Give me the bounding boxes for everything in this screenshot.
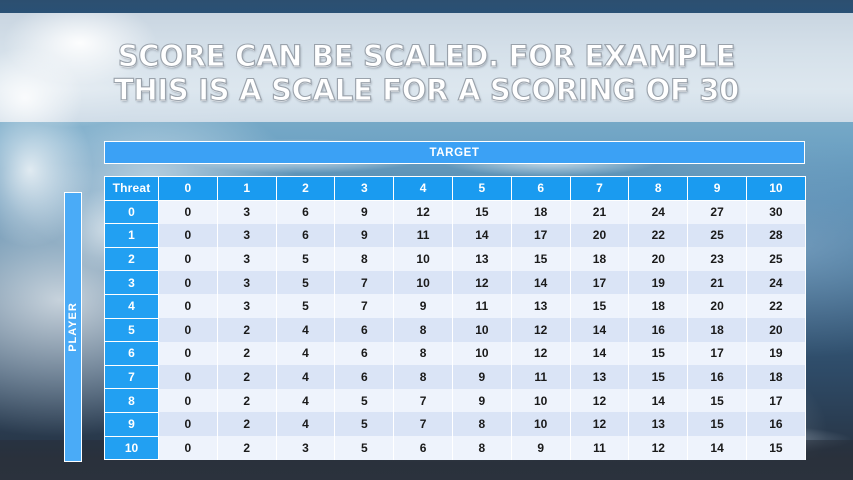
cell-r3-c10: 24	[746, 271, 805, 295]
cell-r2-c10: 25	[746, 247, 805, 271]
cell-r8-c0: 0	[159, 389, 218, 413]
column-header-7: 7	[570, 177, 629, 201]
row-header-0: 0	[105, 200, 159, 224]
page-title: SCORE CAN BE SCALED. FOR EXAMPLE THIS IS…	[0, 39, 853, 107]
cell-r5-c10: 20	[746, 318, 805, 342]
cell-r5-c8: 16	[629, 318, 688, 342]
row-header-5: 5	[105, 318, 159, 342]
column-header-9: 9	[688, 177, 747, 201]
table-corner-header-threat: Threat	[105, 177, 159, 201]
cell-r10-c0: 0	[159, 436, 218, 460]
column-axis-label-target: TARGET	[104, 141, 805, 164]
table-row: 403579111315182022	[105, 294, 806, 318]
row-header-7: 7	[105, 365, 159, 389]
cell-r0-c0: 0	[159, 200, 218, 224]
cell-r8-c9: 15	[688, 389, 747, 413]
cell-r6-c6: 12	[511, 342, 570, 366]
cell-r6-c9: 17	[688, 342, 747, 366]
cell-r8-c5: 9	[452, 389, 511, 413]
cell-r2-c7: 18	[570, 247, 629, 271]
cell-r5-c3: 6	[335, 318, 394, 342]
cell-r4-c10: 22	[746, 294, 805, 318]
cell-r0-c8: 24	[629, 200, 688, 224]
row-header-8: 8	[105, 389, 159, 413]
cell-r6-c0: 0	[159, 342, 218, 366]
cell-r1-c3: 9	[335, 224, 394, 248]
cell-r3-c4: 10	[394, 271, 453, 295]
cell-r9-c2: 4	[276, 412, 335, 436]
title-banner: SCORE CAN BE SCALED. FOR EXAMPLE THIS IS…	[0, 13, 853, 122]
cell-r9-c9: 15	[688, 412, 747, 436]
cell-r4-c1: 3	[217, 294, 276, 318]
cell-r3-c8: 19	[629, 271, 688, 295]
column-header-1: 1	[217, 177, 276, 201]
cell-r8-c3: 5	[335, 389, 394, 413]
table-row: 80245791012141517	[105, 389, 806, 413]
cell-r7-c7: 13	[570, 365, 629, 389]
cell-r6-c8: 15	[629, 342, 688, 366]
table-row: 0036912151821242730	[105, 200, 806, 224]
cell-r2-c3: 8	[335, 247, 394, 271]
cell-r10-c7: 11	[570, 436, 629, 460]
row-header-2: 2	[105, 247, 159, 271]
cell-r2-c2: 5	[276, 247, 335, 271]
cell-r5-c6: 12	[511, 318, 570, 342]
cell-r7-c1: 2	[217, 365, 276, 389]
row-header-9: 9	[105, 412, 159, 436]
cell-r3-c3: 7	[335, 271, 394, 295]
cell-r6-c4: 8	[394, 342, 453, 366]
table-row: 2035810131518202325	[105, 247, 806, 271]
player-label-text: PLAYER	[67, 302, 79, 352]
cell-r5-c5: 10	[452, 318, 511, 342]
cell-r9-c0: 0	[159, 412, 218, 436]
cell-r4-c2: 5	[276, 294, 335, 318]
cell-r10-c6: 9	[511, 436, 570, 460]
cell-r1-c9: 25	[688, 224, 747, 248]
cell-r6-c5: 10	[452, 342, 511, 366]
cell-r3-c5: 12	[452, 271, 511, 295]
cell-r7-c9: 16	[688, 365, 747, 389]
column-header-8: 8	[629, 177, 688, 201]
cell-r1-c4: 11	[394, 224, 453, 248]
cell-r4-c9: 20	[688, 294, 747, 318]
cell-r10-c1: 2	[217, 436, 276, 460]
table-row: 502468101214161820	[105, 318, 806, 342]
cell-r3-c9: 21	[688, 271, 747, 295]
cell-r9-c7: 12	[570, 412, 629, 436]
table-row: 70246891113151618	[105, 365, 806, 389]
cell-r9-c10: 16	[746, 412, 805, 436]
row-header-3: 3	[105, 271, 159, 295]
cell-r2-c6: 15	[511, 247, 570, 271]
cell-r4-c8: 18	[629, 294, 688, 318]
cell-r8-c7: 12	[570, 389, 629, 413]
cell-r8-c1: 2	[217, 389, 276, 413]
cell-r7-c4: 8	[394, 365, 453, 389]
target-label-text: TARGET	[429, 147, 479, 159]
cell-r9-c3: 5	[335, 412, 394, 436]
column-header-6: 6	[511, 177, 570, 201]
row-header-4: 4	[105, 294, 159, 318]
score-scale-table: Threat012345678910 003691215182124273010…	[104, 176, 806, 460]
cell-r6-c1: 2	[217, 342, 276, 366]
cell-r1-c7: 20	[570, 224, 629, 248]
cell-r8-c2: 4	[276, 389, 335, 413]
table-head: Threat012345678910	[105, 177, 806, 201]
row-header-6: 6	[105, 342, 159, 366]
cell-r9-c1: 2	[217, 412, 276, 436]
cell-r8-c6: 10	[511, 389, 570, 413]
cell-r2-c0: 0	[159, 247, 218, 271]
cell-r3-c2: 5	[276, 271, 335, 295]
cell-r9-c5: 8	[452, 412, 511, 436]
cell-r7-c0: 0	[159, 365, 218, 389]
table-row: 602468101214151719	[105, 342, 806, 366]
cell-r5-c0: 0	[159, 318, 218, 342]
cell-r4-c6: 13	[511, 294, 570, 318]
cell-r7-c5: 9	[452, 365, 511, 389]
cell-r6-c3: 6	[335, 342, 394, 366]
cell-r1-c0: 0	[159, 224, 218, 248]
cell-r9-c6: 10	[511, 412, 570, 436]
cell-r7-c8: 15	[629, 365, 688, 389]
cell-r4-c7: 15	[570, 294, 629, 318]
cell-r10-c10: 15	[746, 436, 805, 460]
column-header-2: 2	[276, 177, 335, 201]
cell-r6-c10: 19	[746, 342, 805, 366]
column-header-3: 3	[335, 177, 394, 201]
cell-r0-c6: 18	[511, 200, 570, 224]
cell-r6-c2: 4	[276, 342, 335, 366]
table-row: 90245781012131516	[105, 412, 806, 436]
cell-r5-c4: 8	[394, 318, 453, 342]
cell-r2-c1: 3	[217, 247, 276, 271]
row-header-10: 10	[105, 436, 159, 460]
cell-r3-c0: 0	[159, 271, 218, 295]
top-band	[0, 0, 853, 13]
cell-r2-c9: 23	[688, 247, 747, 271]
cell-r3-c1: 3	[217, 271, 276, 295]
cell-r9-c4: 7	[394, 412, 453, 436]
cell-r4-c4: 9	[394, 294, 453, 318]
cell-r0-c3: 9	[335, 200, 394, 224]
cell-r10-c4: 6	[394, 436, 453, 460]
cell-r0-c1: 3	[217, 200, 276, 224]
cell-r7-c6: 11	[511, 365, 570, 389]
cell-r1-c1: 3	[217, 224, 276, 248]
column-header-5: 5	[452, 177, 511, 201]
cell-r10-c2: 3	[276, 436, 335, 460]
cell-r5-c9: 18	[688, 318, 747, 342]
column-header-0: 0	[159, 177, 218, 201]
cell-r0-c2: 6	[276, 200, 335, 224]
row-header-1: 1	[105, 224, 159, 248]
cell-r5-c7: 14	[570, 318, 629, 342]
cell-r2-c4: 10	[394, 247, 453, 271]
cell-r1-c5: 14	[452, 224, 511, 248]
table-body: 0036912151821242730103691114172022252820…	[105, 200, 806, 460]
cell-r5-c1: 2	[217, 318, 276, 342]
cell-r0-c4: 12	[394, 200, 453, 224]
cell-r4-c3: 7	[335, 294, 394, 318]
cell-r5-c2: 4	[276, 318, 335, 342]
cell-r3-c6: 14	[511, 271, 570, 295]
cell-r9-c8: 13	[629, 412, 688, 436]
table-row: 10023568911121415	[105, 436, 806, 460]
cell-r8-c8: 14	[629, 389, 688, 413]
table-row: 1036911141720222528	[105, 224, 806, 248]
cell-r7-c2: 4	[276, 365, 335, 389]
cell-r1-c6: 17	[511, 224, 570, 248]
cell-r0-c5: 15	[452, 200, 511, 224]
cell-r0-c10: 30	[746, 200, 805, 224]
cell-r2-c8: 20	[629, 247, 688, 271]
column-header-10: 10	[746, 177, 805, 201]
row-axis-label-player: PLAYER	[64, 192, 82, 462]
cell-r10-c5: 8	[452, 436, 511, 460]
column-header-4: 4	[394, 177, 453, 201]
cell-r4-c5: 11	[452, 294, 511, 318]
table-header-row: Threat012345678910	[105, 177, 806, 201]
cell-r0-c9: 27	[688, 200, 747, 224]
cell-r2-c5: 13	[452, 247, 511, 271]
cell-r6-c7: 14	[570, 342, 629, 366]
cell-r10-c9: 14	[688, 436, 747, 460]
table-row: 3035710121417192124	[105, 271, 806, 295]
cell-r1-c8: 22	[629, 224, 688, 248]
cell-r0-c7: 21	[570, 200, 629, 224]
cell-r3-c7: 17	[570, 271, 629, 295]
cell-r8-c4: 7	[394, 389, 453, 413]
cell-r1-c10: 28	[746, 224, 805, 248]
slide-canvas: SCORE CAN BE SCALED. FOR EXAMPLE THIS IS…	[0, 0, 853, 480]
cell-r4-c0: 0	[159, 294, 218, 318]
cell-r10-c8: 12	[629, 436, 688, 460]
cell-r7-c3: 6	[335, 365, 394, 389]
cell-r8-c10: 17	[746, 389, 805, 413]
cell-r10-c3: 5	[335, 436, 394, 460]
cell-r1-c2: 6	[276, 224, 335, 248]
cell-r7-c10: 18	[746, 365, 805, 389]
